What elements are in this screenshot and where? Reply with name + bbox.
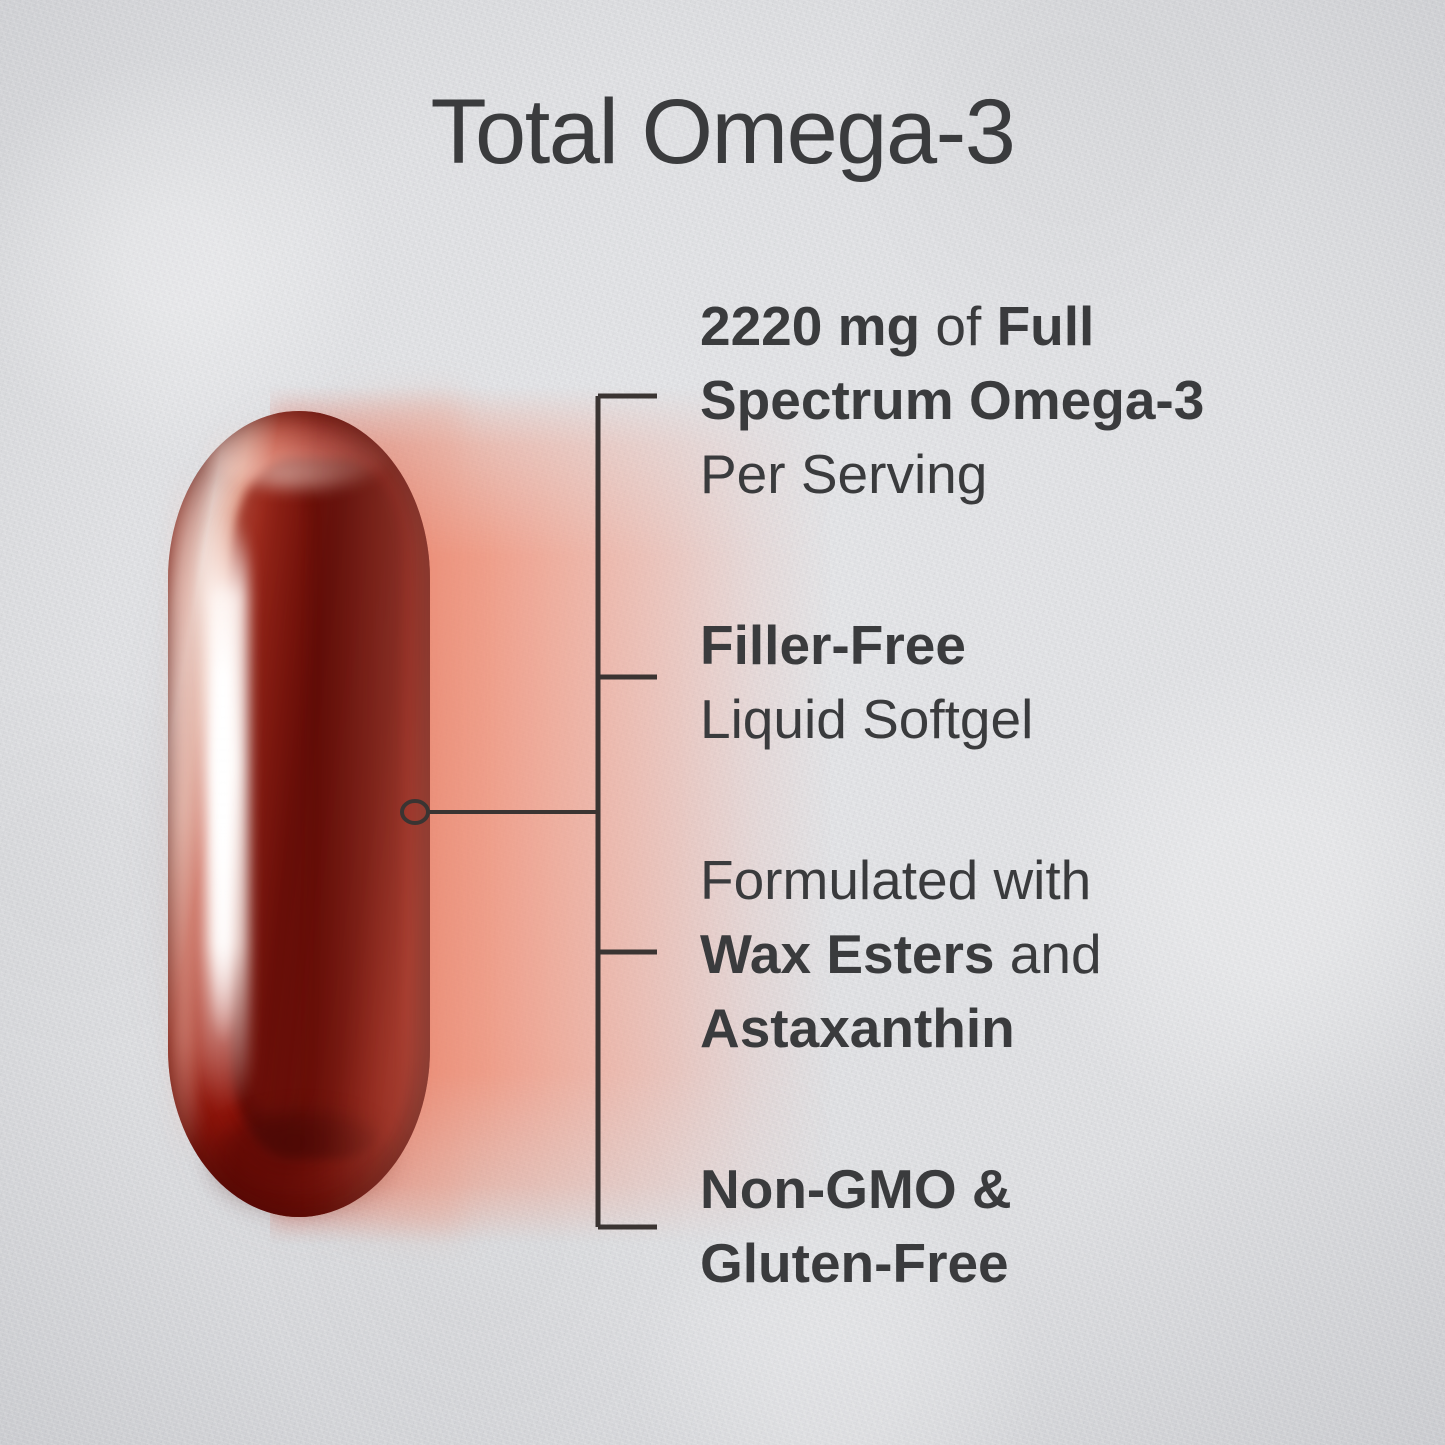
callout-dosage: 2220 mg of Full Spectrum Omega-3 Per Ser… <box>700 289 1204 511</box>
callout-line: Astaxanthin <box>700 991 1102 1065</box>
callout-line: Spectrum Omega-3 <box>700 363 1204 437</box>
callout-line: Gluten-Free <box>700 1226 1012 1300</box>
callout-emphasis: Wax Esters <box>700 923 1010 985</box>
callout-text: of <box>935 295 996 357</box>
callout-line: Liquid Softgel <box>700 682 1033 756</box>
callout-emphasis: Gluten-Free <box>700 1232 1009 1294</box>
capsule-callout-dot <box>402 801 428 823</box>
callout-line: 2220 mg of Full <box>700 289 1204 363</box>
callout-emphasis: Filler-Free <box>700 614 966 676</box>
callout-line: Wax Esters and <box>700 917 1102 991</box>
callout-text: Liquid Softgel <box>700 688 1033 750</box>
callout-line: Per Serving <box>700 437 1204 511</box>
callout-filler-free: Filler-Free Liquid Softgel <box>700 608 1033 756</box>
callout-emphasis: Full <box>997 295 1095 357</box>
callout-emphasis: 2220 mg <box>700 295 935 357</box>
callout-text: and <box>1010 923 1102 985</box>
callout-ingredients: Formulated with Wax Esters and Astaxanth… <box>700 843 1102 1065</box>
product-infographic: Total Omega-3 2220 mg o <box>0 0 1445 1445</box>
callout-line: Formulated with <box>700 843 1102 917</box>
callout-emphasis: Non-GMO & <box>700 1158 1012 1220</box>
callout-emphasis: Spectrum Omega-3 <box>700 369 1204 431</box>
callout-emphasis: Astaxanthin <box>700 997 1015 1059</box>
callout-certifications: Non-GMO & Gluten-Free <box>700 1152 1012 1300</box>
callout-text: Formulated with <box>700 849 1091 911</box>
callout-text: Per Serving <box>700 443 987 505</box>
callout-line: Non-GMO & <box>700 1152 1012 1226</box>
callout-line: Filler-Free <box>700 608 1033 682</box>
